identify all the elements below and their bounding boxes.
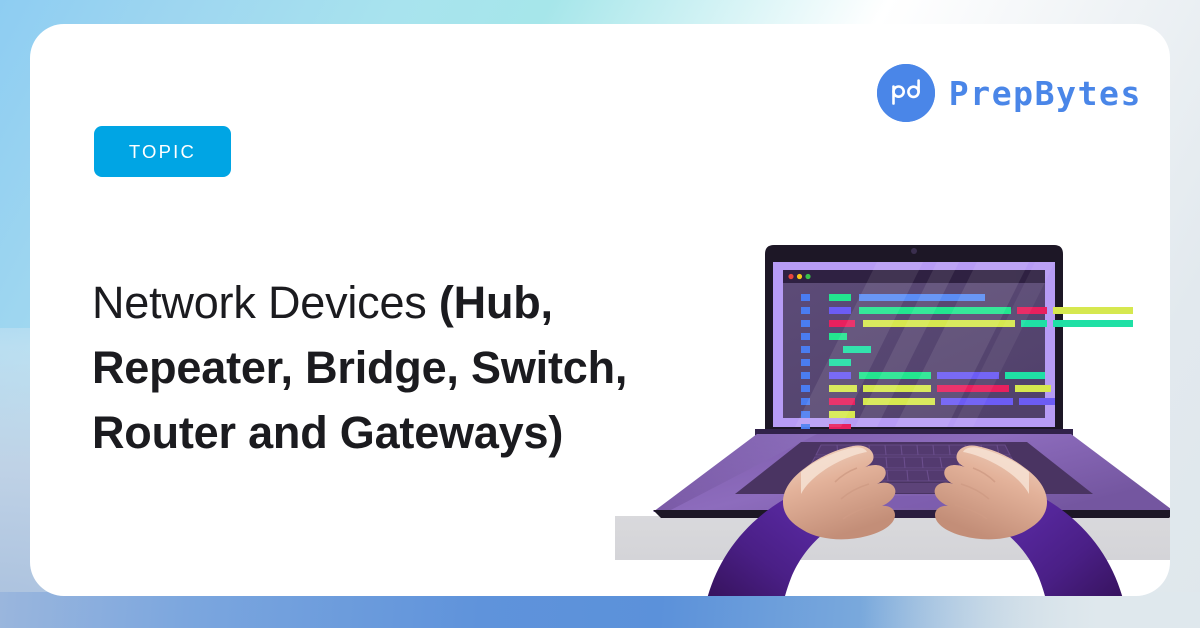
laptop-illustration: [605, 214, 1170, 596]
brand-name: PrepBytes: [949, 74, 1142, 113]
background-bottom-strip-fade: [860, 592, 1200, 628]
code-token-bar: [1019, 398, 1055, 405]
code-gutter-marker: [801, 385, 810, 392]
poster-canvas: PrepBytes TOPIC Network Devices (Hub, Re…: [0, 0, 1200, 628]
brand-logo[interactable]: PrepBytes: [877, 64, 1142, 122]
code-gutter-marker: [801, 359, 810, 366]
topic-badge-label: TOPIC: [129, 141, 196, 163]
code-token-bar: [1005, 372, 1045, 379]
content-card: PrepBytes TOPIC Network Devices (Hub, Re…: [30, 24, 1170, 596]
code-token-bar: [1053, 307, 1133, 314]
code-gutter-marker: [801, 320, 810, 327]
code-token-bar: [1053, 320, 1133, 327]
code-gutter-marker: [801, 346, 810, 353]
prepbytes-pb-circle-icon: [877, 64, 935, 122]
code-gutter-marker: [801, 294, 810, 301]
code-gutter-marker: [801, 333, 810, 340]
page-title-regular: Network Devices: [92, 277, 439, 328]
code-token-bar: [1015, 385, 1051, 392]
code-token-bar: [829, 307, 851, 314]
topic-badge[interactable]: TOPIC: [94, 126, 231, 177]
code-gutter-marker: [801, 307, 810, 314]
code-token-bar: [829, 294, 851, 301]
code-gutter-marker: [801, 372, 810, 379]
